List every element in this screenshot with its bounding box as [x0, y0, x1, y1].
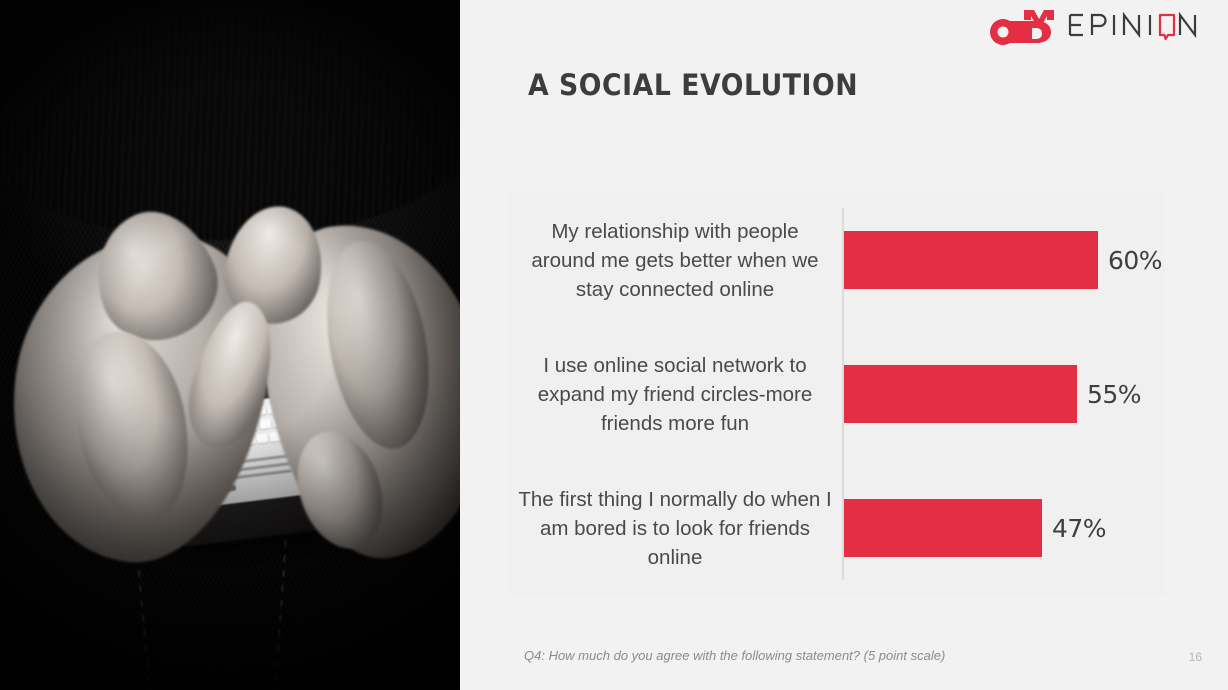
bar-category-label: My relationship with people around me ge… [508, 193, 842, 327]
epinion-wordmark [1068, 12, 1202, 42]
bar-fill [842, 499, 1042, 557]
photo-vignette [0, 0, 460, 690]
bar-value-label: 47% [1052, 514, 1106, 543]
hero-photo [0, 0, 460, 690]
brand-logo [986, 8, 1202, 46]
bar-value-label: 55% [1087, 380, 1141, 409]
page-title: A SOCIAL EVOLUTION [528, 68, 858, 102]
page-number: 16 [1189, 650, 1202, 664]
bar-category-label: I use online social network to expand my… [508, 327, 842, 461]
bar-row: 55% [842, 327, 1166, 461]
bar-fill [842, 365, 1077, 423]
bar-row: 47% [842, 461, 1166, 595]
chart-axis-line [842, 208, 844, 580]
source-footnote: Q4: How much do you agree with the follo… [524, 648, 945, 663]
bar-row: 60% [842, 193, 1166, 327]
slide-content: A SOCIAL EVOLUTION My relationship with … [460, 0, 1228, 690]
bar-value-label: 60% [1108, 246, 1162, 275]
bar-fill [842, 231, 1098, 289]
slide: A SOCIAL EVOLUTION My relationship with … [0, 0, 1228, 690]
omd-logo-icon [986, 8, 1054, 46]
bar-chart: My relationship with people around me ge… [508, 193, 1166, 595]
bar-category-label: The first thing I normally do when I am … [508, 461, 842, 595]
